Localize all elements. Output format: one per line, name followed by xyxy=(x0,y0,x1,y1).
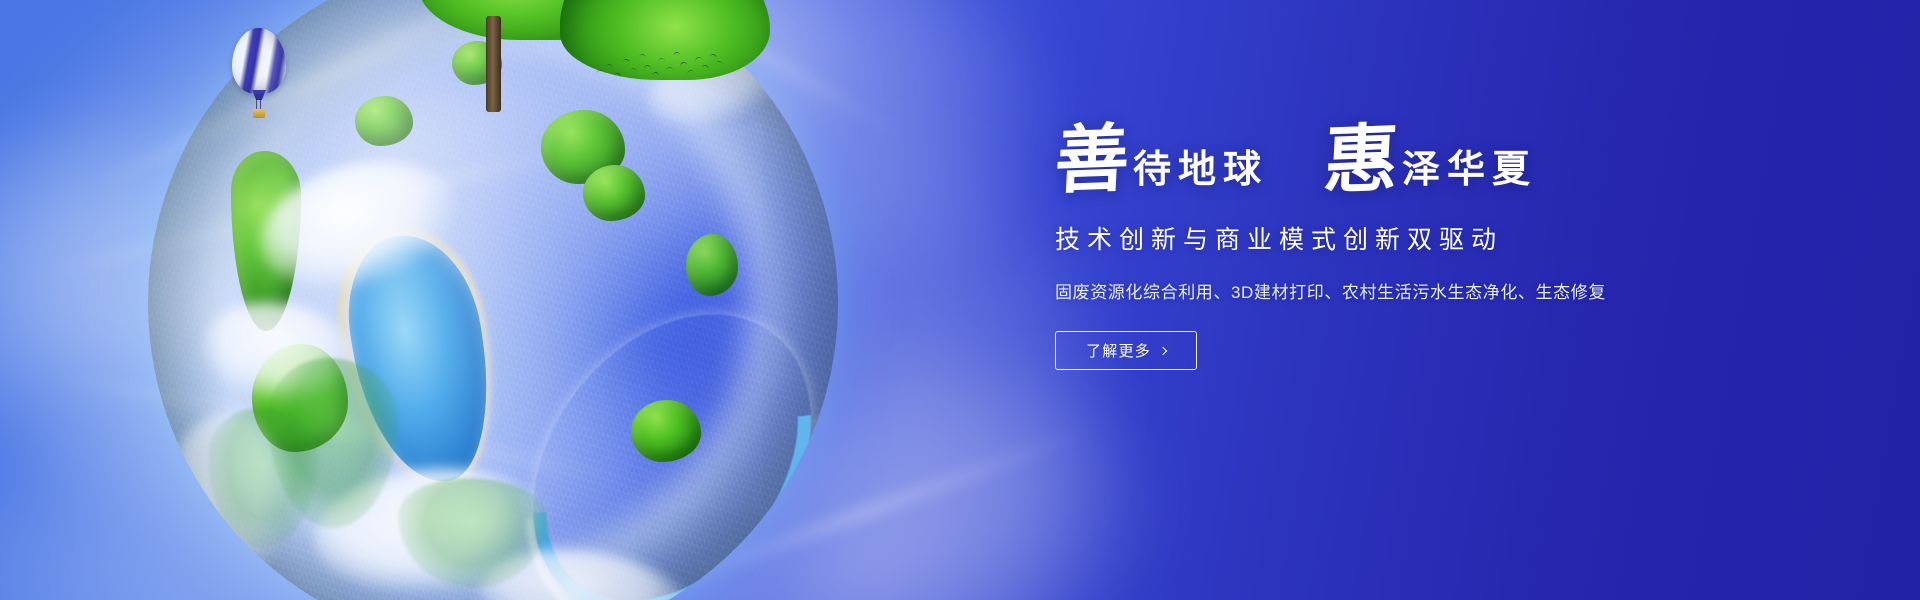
headline-rest-2: 泽华夏 xyxy=(1402,150,1537,194)
bird-icon xyxy=(630,68,637,73)
bird-icon xyxy=(614,72,622,78)
description: 固废资源化综合利用、3D建材打印、农村生活污水生态净化、生态修复 xyxy=(1055,278,1775,303)
headline-rest-1: 待地球 xyxy=(1133,150,1268,194)
bird-icon xyxy=(623,58,631,63)
bird-icon xyxy=(652,72,659,76)
headline-lead-char-2: 惠 xyxy=(1322,125,1400,196)
bird-icon xyxy=(658,58,665,62)
headline: 善 待地球 惠 泽华夏 xyxy=(1055,126,1775,194)
bird-icon xyxy=(639,54,646,59)
subtitle: 技术创新与商业模式创新双驱动 xyxy=(1055,220,1775,256)
bird-icon xyxy=(710,53,718,59)
bird-icon xyxy=(606,63,614,69)
balloon-basket xyxy=(253,109,265,118)
tree-trunk xyxy=(486,16,501,112)
bird-icon xyxy=(687,69,695,75)
bird-icon xyxy=(673,51,681,56)
bird-icon xyxy=(666,67,673,72)
hot-air-balloon-icon xyxy=(232,28,288,124)
balloon-envelope xyxy=(232,28,286,94)
bird-icon xyxy=(695,56,703,62)
bird-icon xyxy=(596,69,604,75)
banner-content: 善 待地球 惠 泽华夏 技术创新与商业模式创新双驱动 固废资源化综合利用、3D建… xyxy=(1055,126,1775,370)
bird-icon xyxy=(644,65,651,69)
headline-lead-char-1: 善 xyxy=(1053,125,1131,196)
learn-more-label: 了解更多 xyxy=(1086,340,1151,361)
chevron-right-icon xyxy=(1159,346,1167,354)
bird-icon xyxy=(702,64,710,70)
bird-flock-icon xyxy=(592,48,722,88)
learn-more-button[interactable]: 了解更多 xyxy=(1055,331,1197,370)
hero-banner: 善 待地球 惠 泽华夏 技术创新与商业模式创新双驱动 固废资源化综合利用、3D建… xyxy=(0,0,1920,600)
bird-icon xyxy=(680,61,688,66)
